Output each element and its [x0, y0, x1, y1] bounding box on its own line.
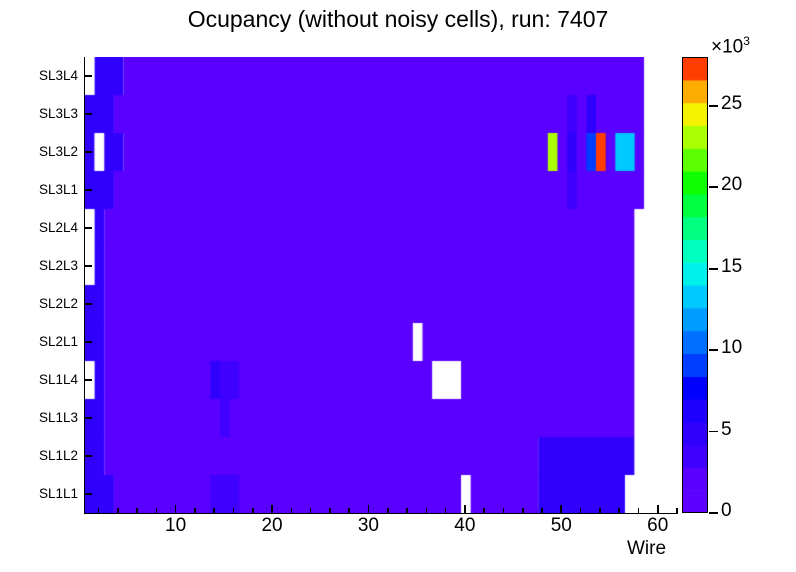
y-axis-label-SL3L1: SL3L1 [12, 182, 78, 197]
y-axis-tick-SL2L2 [84, 303, 92, 305]
y-axis-label-SL2L3: SL2L3 [12, 258, 78, 273]
colorbar-tick-15 [709, 268, 718, 270]
y-axis-tick-SL3L3 [84, 113, 92, 115]
x-axis-tick-12 [194, 508, 196, 513]
x-axis-tick-24 [310, 508, 312, 513]
y-axis-tick-SL2L3 [84, 265, 92, 267]
x-axis-tick-label-50: 50 [536, 515, 586, 537]
x-axis-tick-38 [445, 508, 447, 513]
y-axis-tick-SL1L1 [84, 493, 92, 495]
x-axis-tick-48 [541, 508, 543, 513]
colorbar-tick-label-10: 10 [721, 337, 742, 359]
x-axis-title: Wire [627, 538, 666, 560]
x-axis-tick-label-20: 20 [247, 515, 297, 537]
x-axis-tick-label-60: 60 [633, 515, 683, 537]
x-axis-tick-20 [271, 505, 273, 513]
colorbar-tick-label-15: 15 [721, 256, 742, 278]
x-axis-tick-34 [406, 508, 408, 513]
x-axis-tick-44 [503, 508, 505, 513]
x-axis-tick-32 [387, 508, 389, 513]
x-axis-tick-14 [213, 508, 215, 513]
colorbar[interactable] [682, 57, 708, 513]
colorbar-tick-5 [709, 431, 718, 433]
x-axis-tick-18 [252, 508, 254, 513]
x-axis-tick-26 [329, 508, 331, 513]
colorbar-multiplier-base: ×10 [711, 36, 743, 57]
root-canvas: Ocupancy (without noisy cells), run: 740… [0, 0, 796, 572]
x-axis-tick-52 [580, 508, 582, 513]
x-axis-tick-46 [522, 508, 524, 513]
x-axis-tick-54 [599, 508, 601, 513]
y-axis-tick-SL3L4 [84, 75, 92, 77]
colorbar-tick-20 [709, 186, 718, 188]
y-axis-label-SL3L2: SL3L2 [12, 144, 78, 159]
y-axis-tick-SL2L1 [84, 341, 92, 343]
y-axis-label-SL1L2: SL1L2 [12, 448, 78, 463]
colorbar-multiplier-exponent: 3 [743, 34, 750, 48]
y-axis-tick-SL3L2 [84, 151, 92, 153]
y-axis-label-SL1L1: SL1L1 [12, 486, 78, 501]
y-axis-label-SL2L4: SL2L4 [12, 220, 78, 235]
colorbar-multiplier: ×103 [711, 34, 750, 58]
page-title: Ocupancy (without noisy cells), run: 740… [0, 6, 796, 33]
x-axis-tick-2 [98, 508, 100, 513]
y-axis-label-SL1L4: SL1L4 [12, 372, 78, 387]
x-axis-tick-10 [175, 505, 177, 513]
colorbar-tick-label-20: 20 [721, 174, 742, 196]
y-axis-tick-SL2L4 [84, 227, 92, 229]
x-axis-tick-60 [657, 505, 659, 513]
y-axis-tick-SL1L4 [84, 379, 92, 381]
heatmap-plot-area[interactable] [84, 57, 678, 514]
x-axis-tick-42 [483, 508, 485, 513]
x-axis-tick-30 [368, 505, 370, 513]
x-axis-tick-40 [464, 505, 466, 513]
y-axis-label-SL2L2: SL2L2 [12, 296, 78, 311]
y-axis-tick-SL1L3 [84, 417, 92, 419]
colorbar-tick-10 [709, 349, 718, 351]
heatmap-canvas [85, 57, 678, 513]
x-axis-tick-56 [618, 508, 620, 513]
x-axis-tick-16 [233, 508, 235, 513]
colorbar-tick-label-0: 0 [721, 500, 732, 522]
y-axis-tick-SL3L1 [84, 189, 92, 191]
x-axis-tick-50 [560, 505, 562, 513]
colorbar-tick-25 [709, 105, 718, 107]
y-axis-label-SL3L3: SL3L3 [12, 106, 78, 121]
x-axis-tick-4 [117, 508, 119, 513]
colorbar-tick-label-5: 5 [721, 419, 732, 441]
x-axis-tick-62 [676, 508, 678, 513]
x-axis-tick-label-40: 40 [440, 515, 490, 537]
y-axis-label-SL1L3: SL1L3 [12, 410, 78, 425]
x-axis-tick-8 [156, 508, 158, 513]
x-axis-tick-6 [136, 508, 138, 513]
x-axis-tick-22 [291, 508, 293, 513]
y-axis-label-SL3L4: SL3L4 [12, 68, 78, 83]
y-axis-label-SL2L1: SL2L1 [12, 334, 78, 349]
colorbar-gradient [682, 57, 708, 513]
x-axis-tick-58 [638, 508, 640, 513]
x-axis-tick-label-30: 30 [343, 515, 393, 537]
x-axis-tick-36 [426, 508, 428, 513]
y-axis-tick-SL1L2 [84, 455, 92, 457]
colorbar-tick-label-25: 25 [721, 93, 742, 115]
x-axis-tick-28 [348, 508, 350, 513]
x-axis-tick-label-10: 10 [151, 515, 201, 537]
colorbar-tick-0 [709, 512, 718, 514]
